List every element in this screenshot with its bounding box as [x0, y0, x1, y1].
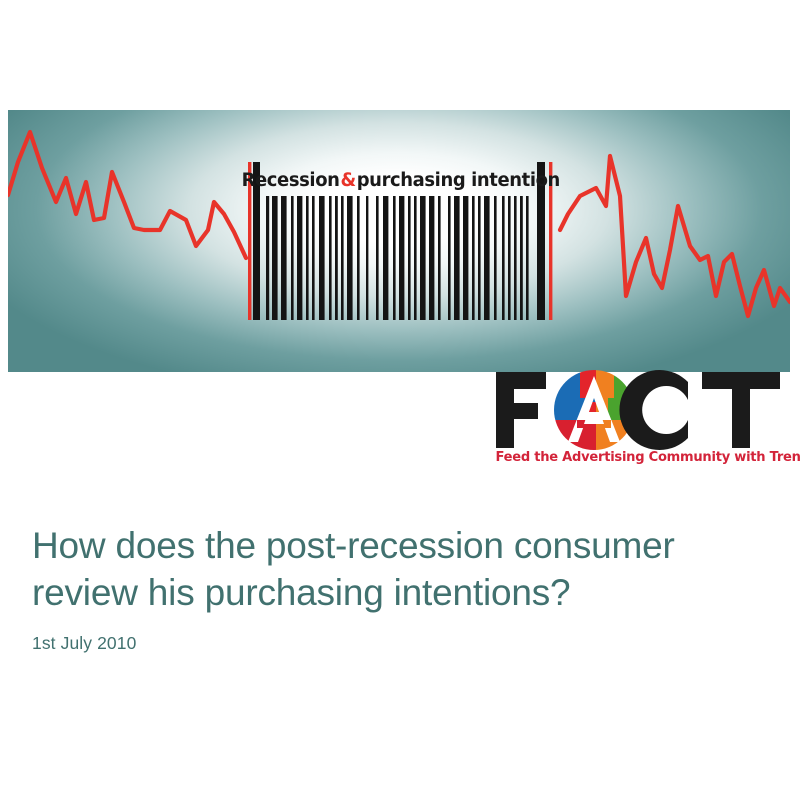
logo-letter-t: [702, 372, 780, 448]
headline-block: How does the post-recession consumer rev…: [32, 523, 762, 654]
fact-logo-svg: [492, 368, 792, 452]
fact-logo-tagline: Feed the Advertising Community with Tren…: [495, 450, 790, 465]
barcode-caption: Recession & purchasing intention: [264, 165, 538, 195]
barcode-caption-ampersand: &: [340, 170, 357, 191]
page-title: How does the post-recession consumer rev…: [32, 523, 762, 617]
barcode-caption-before: Recession: [242, 170, 340, 191]
barcode-graphic: Recession & purchasing intention: [246, 162, 562, 320]
barcode-caption-after: purchasing intention: [357, 170, 560, 191]
trend-line-right: [560, 156, 790, 316]
barcode-body-bars: [266, 196, 529, 320]
recession-banner: Recession & purchasing intention: [8, 110, 790, 372]
presentation-date: 1st July 2010: [32, 633, 762, 654]
slide-root: Recession & purchasing intention: [0, 0, 800, 800]
logo-letter-f: [496, 372, 546, 448]
logo-letter-c: [619, 370, 688, 450]
fact-logo: Feed the Advertising Community with Tren…: [492, 368, 792, 480]
fact-logo-wordmark: [492, 368, 792, 452]
trend-line-left: [8, 132, 246, 258]
